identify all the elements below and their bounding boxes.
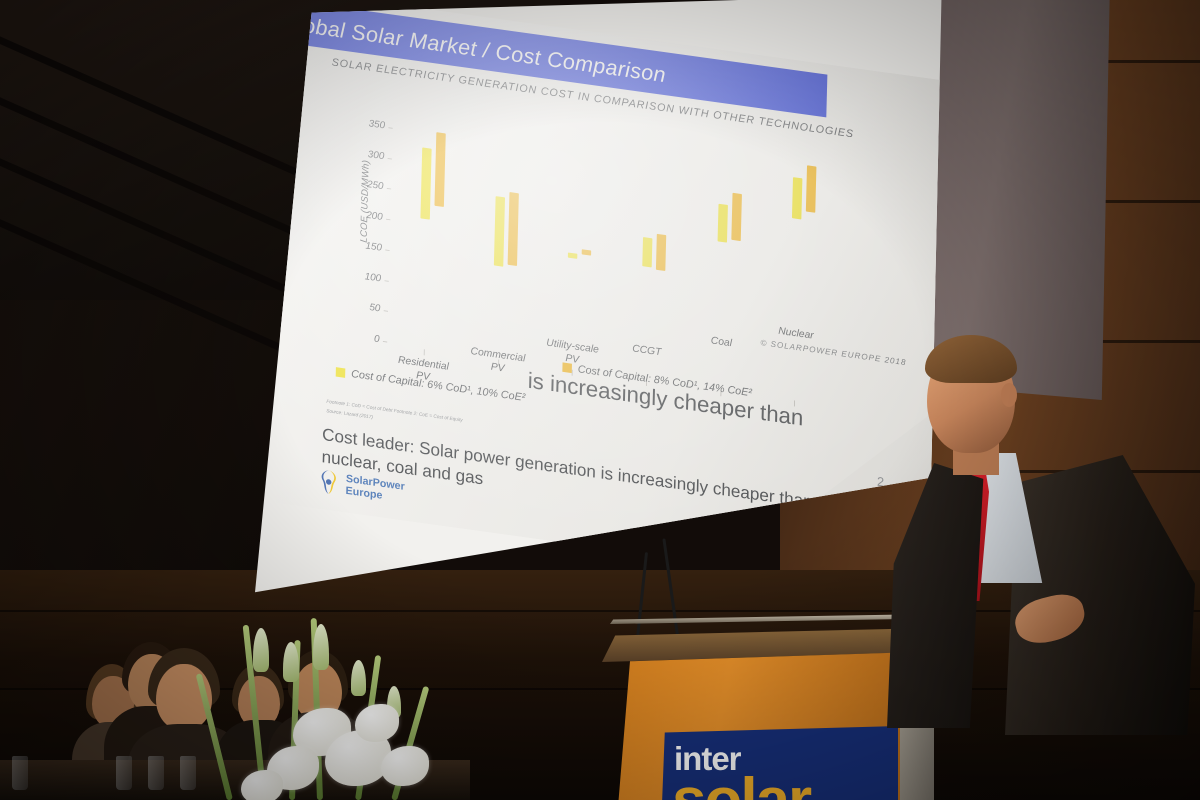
speaker-hair (925, 335, 1017, 383)
speaker-ear (1001, 383, 1017, 407)
y-tick-mark (387, 188, 391, 189)
y-tick-label: 50 (351, 300, 380, 314)
projection-screen: Global Solar Market / Cost Comparison SO… (255, 0, 945, 614)
intersolar-sign: inter solar (660, 726, 898, 800)
y-tick-mark (386, 219, 390, 220)
chart-bar (806, 165, 817, 213)
y-tick-label: 350 (356, 117, 385, 131)
chart-bar (420, 147, 431, 220)
chart-bar (507, 192, 518, 267)
conference-photo-scene: Global Solar Market / Cost Comparison SO… (0, 0, 1200, 800)
y-tick-label: 150 (353, 239, 382, 253)
y-tick-mark (388, 158, 392, 159)
x-category-label: CCGT (604, 325, 690, 362)
flower-arrangement (205, 620, 435, 800)
water-glass (12, 756, 28, 790)
y-tick-mark (383, 341, 387, 342)
y-tick-label: 250 (354, 178, 383, 192)
speaker-jacket-right (1005, 455, 1195, 735)
intersolar-sign-solar: solar (672, 772, 810, 800)
chart-bar (434, 133, 445, 208)
y-tick-mark (385, 249, 389, 250)
speaker-at-lectern (905, 335, 1200, 735)
lectern-rail (610, 614, 930, 624)
y-tick-mark (384, 280, 388, 281)
chart-bar (493, 196, 504, 267)
y-tick-mark (388, 127, 392, 128)
screen-surface: Global Solar Market / Cost Comparison SO… (255, 0, 945, 614)
y-tick-mark (384, 310, 388, 311)
x-category-label: Coal (679, 317, 765, 354)
presentation-slide: Global Solar Market / Cost Comparison SO… (276, 0, 990, 600)
chart-bar (717, 203, 727, 242)
y-tick-label: 100 (352, 269, 381, 283)
solarpower-logo-mark (317, 468, 340, 497)
x-tick-mark (424, 349, 425, 355)
chart-bar (642, 237, 652, 268)
y-tick-label: 300 (355, 147, 384, 161)
water-glass (180, 756, 196, 790)
chart-bar (568, 253, 578, 259)
chart-bar (582, 250, 592, 256)
lectern-front-panel: inter solar (618, 652, 918, 800)
y-tick-label: 200 (353, 208, 382, 222)
chart-bar (731, 193, 742, 241)
water-glass (116, 756, 132, 790)
water-glass (148, 756, 164, 790)
y-tick-label: 0 (350, 331, 379, 345)
chart-bar (656, 234, 666, 271)
chart-bar (792, 177, 802, 220)
legend-swatch-low (336, 367, 346, 378)
